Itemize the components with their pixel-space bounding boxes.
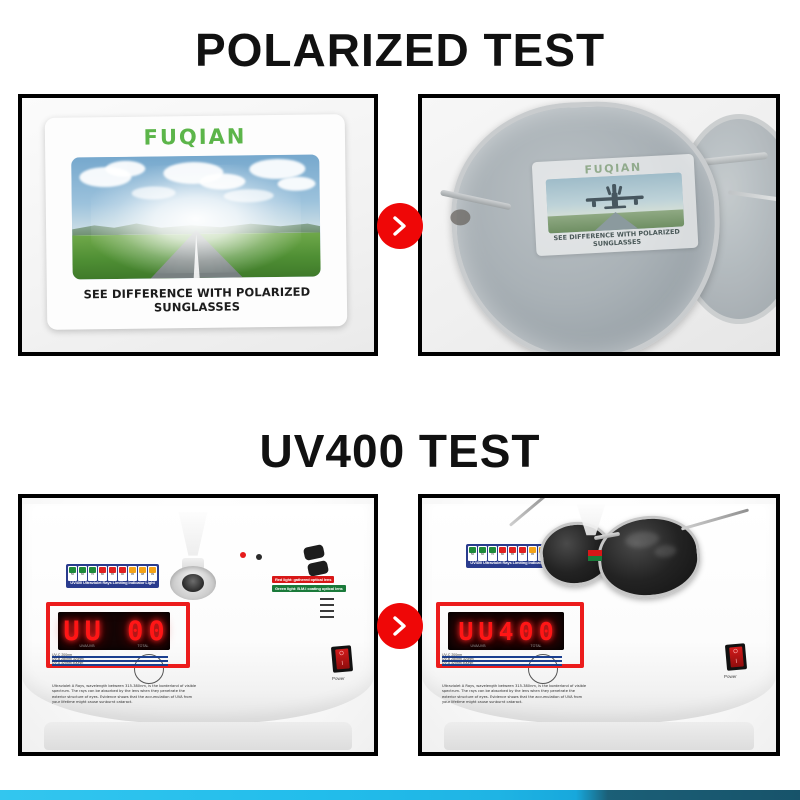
indicator-led: 60 — [478, 546, 487, 561]
sensor-aperture — [182, 574, 204, 592]
indicator-led: 60 — [78, 566, 87, 581]
card-caption: SEE DIFFERENCE WITH POLARIZED SUNGLASSES — [47, 284, 347, 316]
polarization-test-card: FUQIAN SEE DIFFERENCE WITH POLARIZED SUN… — [45, 114, 348, 330]
chevron-right-icon — [390, 215, 410, 237]
power-switch[interactable]: O I — [331, 645, 353, 673]
polarized-after-panel: FUQIAN — [418, 94, 780, 356]
sunglass-nose-pad — [450, 209, 471, 226]
chevron-right-icon — [390, 615, 410, 637]
uv-indicator-strip: 50 60 70 80 85 90 95 98 99 UV400 Ultravi… — [66, 564, 159, 588]
red-indicator-dot — [240, 552, 246, 558]
product-detail-image: POLARIZED TEST FUQIAN SEE DI — [0, 0, 800, 800]
red-light-banner: Red light: gathered optical lens — [272, 576, 334, 583]
scale-tick — [320, 616, 334, 618]
power-rocker: O I — [335, 648, 350, 669]
wavelength-scale: UV-C 200nm UV-B 280nm 320nm UV-A 320nm 4… — [442, 656, 562, 668]
uv-fine-print: Ultraviolet A Rays, wavelength between 3… — [52, 684, 200, 706]
scale-row-label: UV-A 320nm 400nm — [52, 661, 83, 665]
polarization-test-card-through-lens: FUQIAN — [532, 154, 699, 256]
indicator-led: 50 — [468, 546, 477, 561]
scale-row-label: UV-A 320nm 400nm — [442, 661, 473, 665]
uv-fine-print: Ultraviolet A Rays, wavelength between 3… — [442, 684, 590, 706]
sunglass-polarized-lens: FUQIAN — [448, 97, 725, 356]
polarized-before-panel: FUQIAN SEE DIFFERENCE WITH POLARIZED SUN… — [18, 94, 378, 356]
lens-reflection — [624, 530, 659, 549]
indicator-strip-label: UV400 Ultraviolet Rays Limiting Indicato… — [68, 581, 157, 586]
lens-reflection — [654, 544, 677, 558]
scale-tick — [320, 604, 334, 606]
power-mark-on: I — [341, 661, 343, 667]
indicator-led: 99 — [148, 566, 157, 581]
indicator-led: 50 — [68, 566, 77, 581]
black-indicator-dot — [256, 554, 262, 560]
airplane-icon — [581, 182, 648, 215]
indicator-led: 70 — [488, 546, 497, 561]
indicator-led-row: 50 60 70 80 85 90 95 98 99 — [68, 566, 157, 581]
scale-tick — [320, 610, 334, 612]
indicator-led: 98 — [138, 566, 147, 581]
card-scene-image-airplane — [546, 172, 685, 233]
scale-tick — [320, 598, 334, 600]
power-mark-on: I — [735, 659, 737, 665]
card-brand-logo: FUQIAN — [45, 123, 345, 151]
indicator-led: 90 — [518, 546, 527, 561]
card-scene-image — [71, 154, 320, 279]
power-mark-off: O — [733, 649, 738, 655]
wavelength-scale: UV-C 200nm UV-B 280nm 320nm UV-A 320nm 4… — [52, 656, 168, 668]
bottom-color-strip — [0, 790, 800, 800]
indicator-led: 80 — [498, 546, 507, 561]
indicator-led: 90 — [118, 566, 127, 581]
green-light-banner: Green light: B.M.I coating optical lens — [272, 585, 346, 592]
uv-meter-base — [444, 722, 754, 750]
indicator-led: 85 — [108, 566, 117, 581]
uv400-before-panel: 50 60 70 80 85 90 95 98 99 UV400 Ultravi… — [18, 494, 378, 756]
indicator-color-chip — [588, 550, 602, 561]
uv400-test-heading: UV400 TEST — [0, 428, 800, 474]
uv400-after-panel: 50 60 70 80 85 90 95 98 99 UV400 Ultravi… — [418, 494, 780, 756]
power-switch[interactable]: O I — [725, 643, 747, 671]
power-switch-label: Power — [332, 676, 345, 681]
arrow-right-badge[interactable] — [377, 203, 423, 249]
indicator-led: 70 — [88, 566, 97, 581]
scale-row: UV-A 320nm 400nm — [52, 664, 168, 666]
indicator-led: 85 — [508, 546, 517, 561]
indicator-led: 95 — [528, 546, 537, 561]
sun-glare — [90, 164, 301, 275]
scale-row: UV-A 320nm 400nm — [442, 664, 562, 666]
power-rocker: O I — [729, 646, 744, 667]
indicator-led: 95 — [128, 566, 137, 581]
uv-meter-base — [44, 722, 352, 750]
power-switch-label: Power — [724, 674, 737, 679]
indicator-led: 80 — [98, 566, 107, 581]
polarized-test-heading: POLARIZED TEST — [0, 27, 800, 73]
arrow-right-badge[interactable] — [377, 603, 423, 649]
power-mark-off: O — [339, 651, 344, 657]
